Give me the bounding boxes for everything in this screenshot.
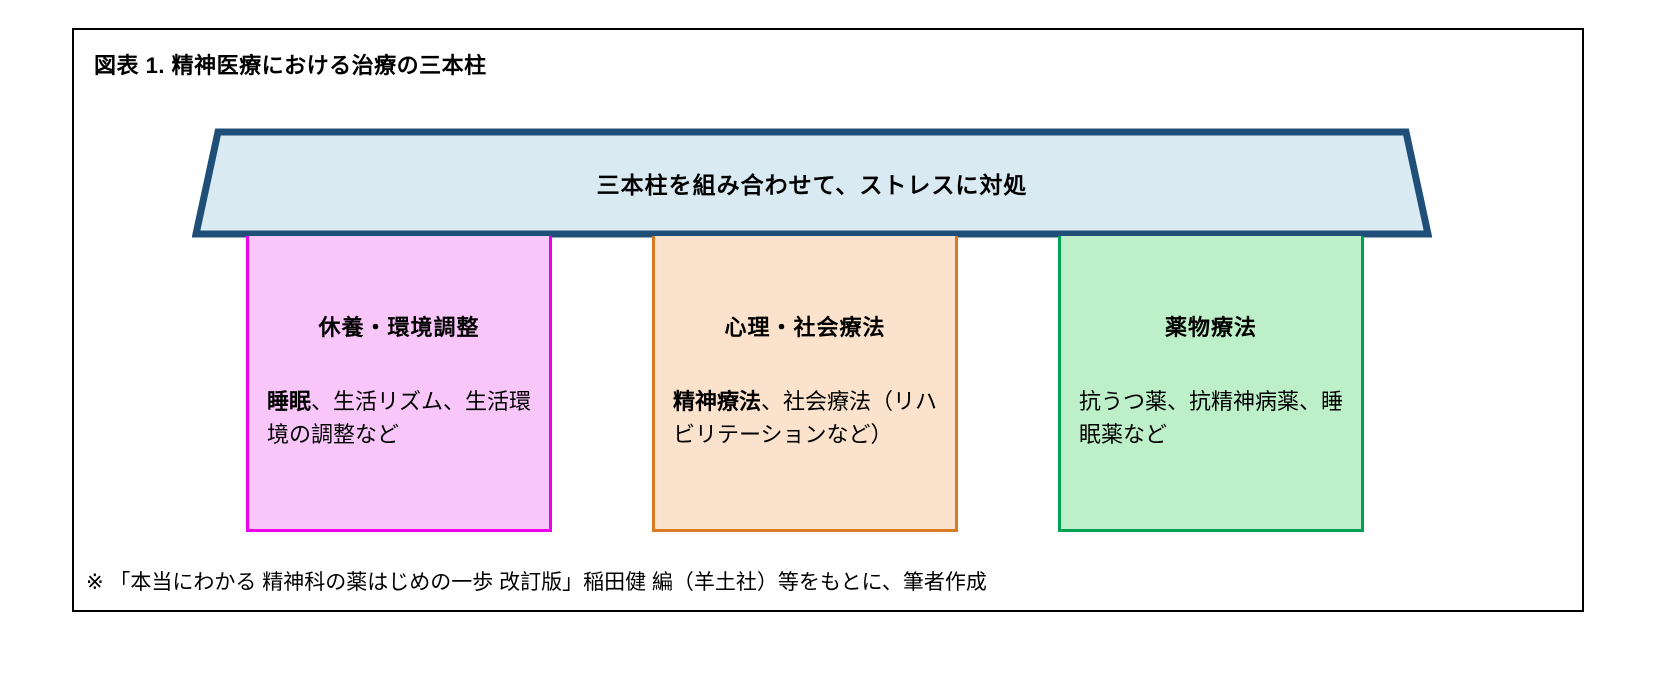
roof-banner: 三本柱を組み合わせて、ストレスに対処 xyxy=(192,128,1432,238)
figure-frame: 図表 1. 精神医療における治療の三本柱 三本柱を組み合わせて、ストレスに対処 … xyxy=(72,28,1584,612)
pillar-rest-body: 睡眠、生活リズム、生活環境の調整など xyxy=(267,386,537,451)
pillar-rest: 休養・環境調整 睡眠、生活リズム、生活環境の調整など xyxy=(246,236,552,532)
figure-footnote: ※ 「本当にわかる 精神科の薬はじめの一歩 改訂版」稲田健 編（羊土社）等をもと… xyxy=(86,566,987,596)
pillar-psycho-body: 精神療法、社会療法（リハビリテーションなど） xyxy=(673,386,943,451)
pillar-medicine-body: 抗うつ薬、抗精神病薬、睡眠薬など xyxy=(1079,386,1349,451)
pillar-rest-title: 休養・環境調整 xyxy=(249,310,549,342)
pillar-psycho-title: 心理・社会療法 xyxy=(655,310,955,342)
pillar-medicine-body-rest: 抗うつ薬、抗精神病薬、睡眠薬など xyxy=(1079,389,1343,447)
three-pillars-diagram: 三本柱を組み合わせて、ストレスに対処 休養・環境調整 睡眠、生活リズム、生活環境… xyxy=(74,30,1582,610)
pillar-medicine: 薬物療法 抗うつ薬、抗精神病薬、睡眠薬など xyxy=(1058,236,1364,532)
pillar-medicine-title: 薬物療法 xyxy=(1061,310,1361,342)
pillar-psycho-body-bold: 精神療法 xyxy=(673,389,761,414)
roof-shape xyxy=(192,128,1432,238)
pillar-rest-body-bold: 睡眠 xyxy=(267,389,311,414)
roof-polygon xyxy=(196,132,1428,234)
pillar-psycho: 心理・社会療法 精神療法、社会療法（リハビリテーションなど） xyxy=(652,236,958,532)
